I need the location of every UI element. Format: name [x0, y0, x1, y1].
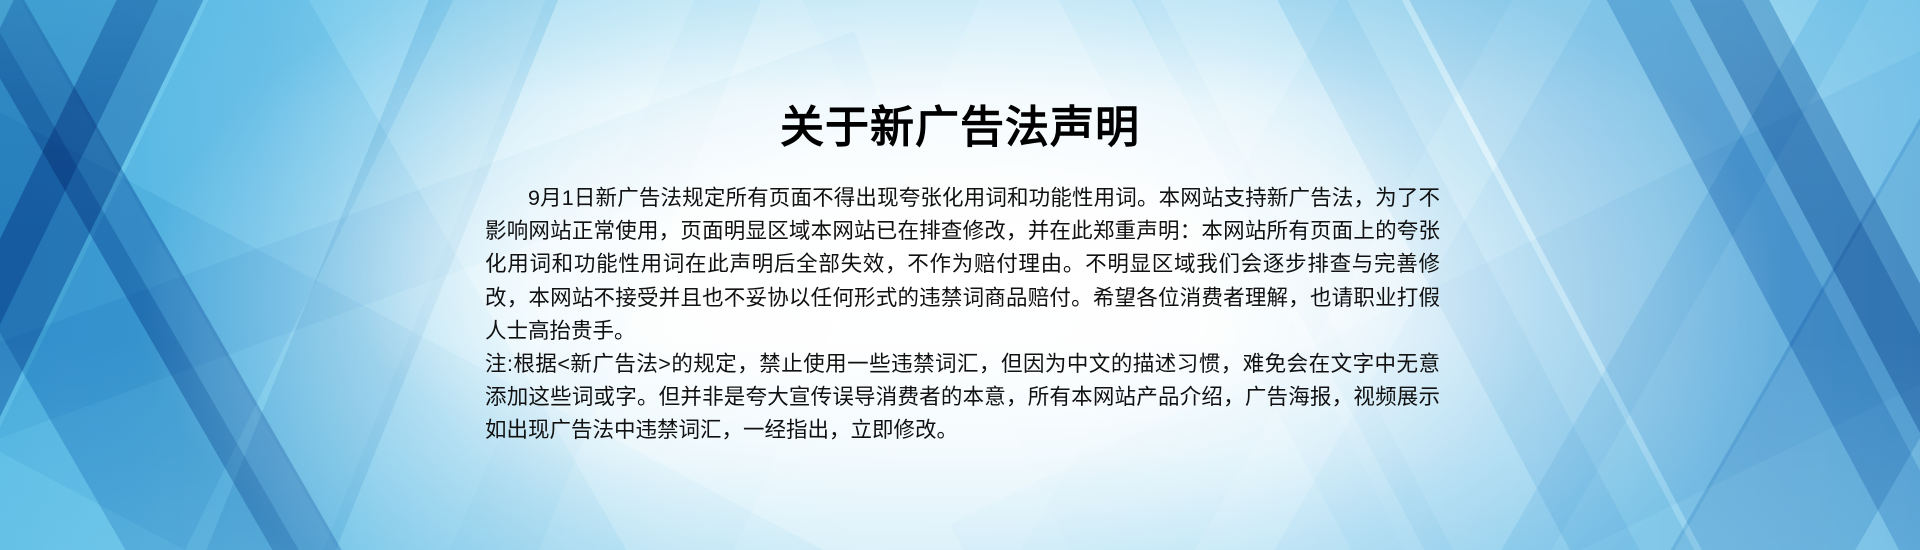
statement-paragraph-1: 9月1日新广告法规定所有页面不得出现夸张化用词和功能性用词。本网站支持新广告法，…	[485, 182, 1440, 348]
statement-body: 9月1日新广告法规定所有页面不得出现夸张化用词和功能性用词。本网站支持新广告法，…	[485, 182, 1440, 448]
banner-content: 关于新广告法声明 9月1日新广告法规定所有页面不得出现夸张化用词和功能性用词。本…	[0, 0, 1920, 550]
statement-paragraph-2: 注:根据<新广告法>的规定，禁止使用一些违禁词汇，但因为中文的描述习惯，难免会在…	[485, 348, 1440, 448]
page-title: 关于新广告法声明	[0, 104, 1920, 152]
advertising-law-banner: 关于新广告法声明 9月1日新广告法规定所有页面不得出现夸张化用词和功能性用词。本…	[0, 0, 1920, 550]
